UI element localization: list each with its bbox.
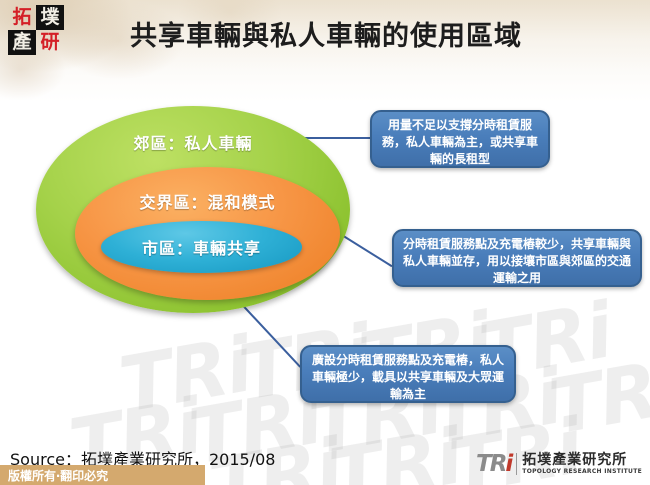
zone-label-urban: 市區：車輛共享 — [101, 235, 302, 259]
page-title: 共享車輛與私人車輛的使用區域 — [130, 22, 600, 52]
watermark-tri: TRi — [113, 319, 257, 429]
footer-logo: TRi 拓墣產業研究所 TOPOLOGY RESEARCH INSTITUTE — [476, 449, 642, 479]
zone-label-suburb: 郊區：私人車輛 — [36, 130, 350, 154]
slide-canvas: TRi TRi TRi TRi TRi TRi TRi TRi TRi TRi … — [0, 0, 650, 485]
callout-fringe[interactable]: 分時租賃服務點及充電樁較少，共享車輛與私人車輛並存，用以接壤市區與郊區的交通運輸… — [392, 229, 642, 287]
brand-seal-logo: 拓 墣 產 研 — [8, 5, 64, 55]
logo-name-cn: 拓墣產業研究所 — [522, 453, 642, 467]
seal-char-1: 拓 — [8, 5, 36, 30]
seal-char-4: 研 — [36, 30, 64, 55]
logo-text-block: 拓墣產業研究所 TOPOLOGY RESEARCH INSTITUTE — [522, 453, 642, 475]
callout-suburb[interactable]: 用量不足以支撐分時租賃服務，私人車輛為主，或共享車輛的長租型 — [370, 110, 550, 168]
watermark-tri: TRi — [543, 341, 650, 451]
header-ink-wash-texture — [0, 0, 650, 120]
seal-char-3: 產 — [8, 30, 36, 55]
copyright-text: 版權所有‧翻印必究 — [0, 467, 108, 484]
seal-char-2: 墣 — [36, 5, 64, 30]
copyright-bar: 版權所有‧翻印必究 — [0, 465, 205, 485]
zone-ellipse-urban[interactable]: 市區：車輛共享 — [101, 221, 302, 273]
watermark-tri: TRi — [323, 411, 467, 485]
tri-wordmark: TRi — [476, 453, 511, 476]
callout-urban[interactable]: 廣設分時租賃服務點及充電樁，私人車輛極少，載具以共享車輛及大眾運輸為主 — [300, 345, 516, 403]
logo-name-en: TOPOLOGY RESEARCH INSTITUTE — [522, 469, 642, 475]
zone-label-fringe: 交界區：混和模式 — [75, 189, 340, 213]
logo-divider — [516, 453, 517, 475]
